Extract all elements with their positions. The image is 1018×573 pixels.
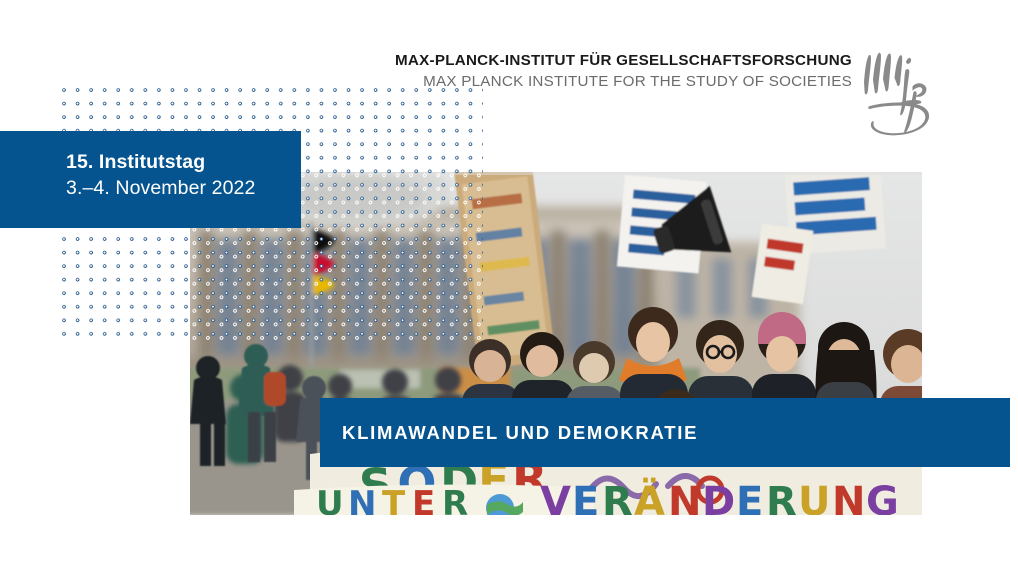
institute-branding: MAX-PLANCK-INSTITUT FÜR GESELLSCHAFTSFOR… [0, 52, 852, 91]
svg-text:U: U [316, 484, 344, 515]
svg-text:N: N [668, 479, 701, 515]
event-date: 3.–4. November 2022 [66, 176, 301, 201]
institute-name-de: MAX-PLANCK-INSTITUT FÜR GESELLSCHAFTSFOR… [0, 52, 852, 71]
event-title: 15. Institutstag [66, 150, 301, 175]
svg-text:E: E [572, 479, 599, 515]
poster-canvas: MAX-PLANCK-INSTITUT FÜR GESELLSCHAFTSFOR… [0, 0, 1018, 573]
svg-text:N: N [348, 484, 376, 515]
title-banner-text: KLIMAWANDEL UND DEMOKRATIE [342, 422, 698, 444]
svg-text:U: U [798, 479, 830, 515]
title-banner: KLIMAWANDEL UND DEMOKRATIE [320, 398, 1010, 467]
svg-text:V: V [540, 479, 571, 515]
svg-text:D: D [702, 479, 735, 515]
mpifg-calligraphic-logo-icon [856, 48, 942, 140]
event-info-box: 15. Institutstag 3.–4. November 2022 [0, 131, 301, 228]
svg-text:R: R [766, 479, 797, 515]
svg-text:E: E [736, 479, 763, 515]
institute-name-en: MAX PLANCK INSTITUTE FOR THE STUDY OF SO… [0, 73, 852, 92]
svg-text:E: E [412, 484, 435, 515]
svg-text:R: R [602, 479, 633, 515]
svg-text:Ä: Ä [634, 477, 665, 515]
svg-text:T: T [382, 484, 406, 515]
svg-text:R: R [442, 484, 468, 515]
svg-text:G: G [866, 479, 899, 515]
svg-text:N: N [832, 479, 865, 515]
